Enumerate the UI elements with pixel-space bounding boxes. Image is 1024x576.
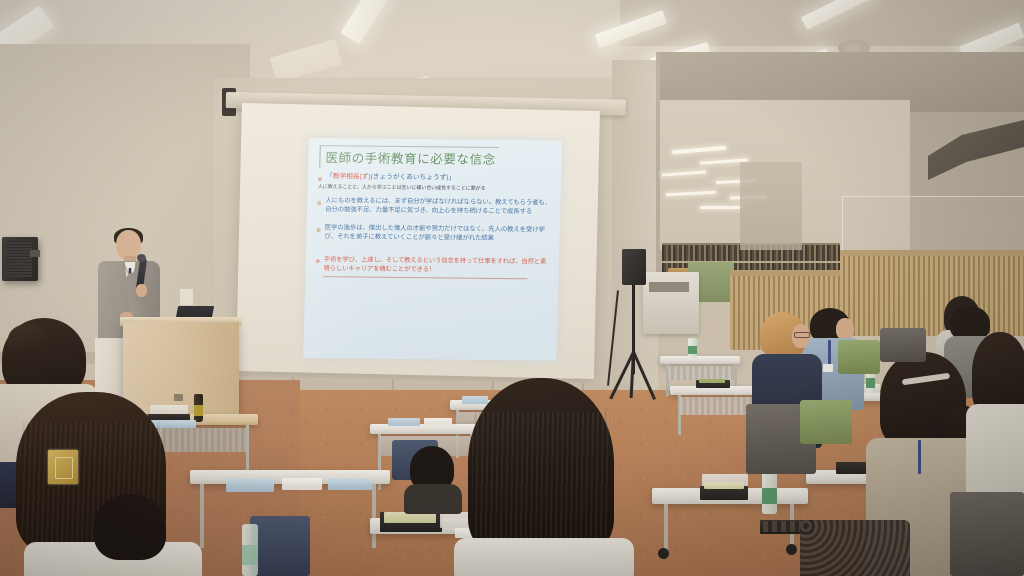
slide-bullet-1-subtext: 人に教えることと、人から学ぶことは互いに補い合い成長することに繋がる	[318, 184, 553, 193]
bottle-label	[242, 545, 258, 565]
bottle-label	[762, 488, 777, 505]
desk-modesty-panel	[668, 366, 734, 380]
attendee-chair	[950, 492, 1024, 576]
attendee-skirt-pattern	[800, 520, 910, 576]
bullet-marker-icon	[317, 201, 321, 205]
attendee-hair-bun	[8, 324, 48, 354]
attendee-foreground-center	[468, 378, 638, 576]
copier-panel	[649, 282, 689, 292]
slide-bullet-2-text: 人にものを教えるには、まず自分が学ばなければならない。教えてもらう者も、自分の勉…	[325, 198, 552, 217]
water-bottle	[762, 470, 777, 514]
wall-speaker	[2, 237, 38, 281]
handout-paper	[226, 478, 274, 492]
attendee-torso	[404, 484, 462, 514]
slide-bullet-1: 「教学相長(ず)(きょうがくあいちょうず)」	[318, 173, 553, 184]
presentation-photo-scene: 医師の手術教育に必要な信念 「教学相長(ず)(きょうがくあいちょうず)」 人に教…	[0, 0, 1024, 576]
bullet-marker-icon	[318, 177, 322, 181]
desk-caster-icon	[658, 548, 669, 559]
bento-food	[704, 482, 744, 489]
tripod-speaker	[622, 249, 646, 285]
attendee-chair-green	[838, 340, 880, 374]
desk-modesty-panel	[680, 397, 752, 415]
handout-paper	[328, 478, 372, 490]
attendee-chair	[880, 328, 926, 362]
projected-slide: 医師の手術教育に必要な信念 「教学相長(ず)(きょうがくあいちょうず)」 人に教…	[303, 138, 562, 361]
slide-bullet-1-highlight: 教学相長(ず)	[333, 173, 371, 180]
partition-cap	[840, 250, 1024, 256]
hair-clip	[48, 450, 78, 484]
attendee-desk	[660, 356, 740, 364]
microphone-head-icon	[137, 254, 146, 262]
bento-food	[699, 379, 725, 383]
copier	[643, 272, 699, 334]
desk-leg	[246, 425, 249, 475]
bottle-label	[688, 346, 697, 354]
attendee-hair	[94, 494, 166, 560]
attendee-midground	[94, 494, 172, 576]
attendee-hair-strands	[472, 412, 610, 554]
bullet-marker-icon	[317, 228, 321, 232]
attendee-head	[836, 318, 854, 340]
water-bottle	[688, 338, 697, 358]
slide-bullet-4-underline	[323, 276, 527, 279]
slide-bullet-4-text: 手術を学び、上達し、そして教えるという信念を持って仕事をすれば、自然と素晴らしい…	[323, 255, 550, 275]
speaker-grille	[6, 241, 32, 277]
library-light-strip	[700, 206, 742, 209]
desk-leg	[372, 484, 376, 548]
water-bottle	[242, 524, 258, 576]
bullet-marker-icon	[316, 259, 320, 263]
slide-bullet-1-text: 「教学相長(ず)(きょうがくあいちょうず)」	[326, 173, 455, 183]
attendee-midground	[404, 446, 464, 510]
desk-leg	[664, 504, 668, 552]
wall-socket	[179, 288, 194, 306]
slide-bullet-3-text: 医学の進歩は、傑出した偉人の才能や努力だけではなく、先人の教えを受け学び、それを…	[324, 224, 551, 243]
attendee-torso	[454, 538, 634, 576]
eyeglasses-icon	[794, 332, 810, 338]
handout-paper	[282, 478, 322, 490]
desk-leg	[200, 484, 204, 548]
slide-bullet-3: 医学の進歩は、傑出した偉人の才能や努力だけではなく、先人の教えを受け学び、それを…	[316, 224, 551, 243]
attendee-chair-green	[800, 400, 852, 444]
handout-paper	[424, 418, 452, 426]
lanyard	[828, 340, 831, 366]
partition-cap	[730, 270, 840, 276]
slide-title: 医師の手術教育に必要な信念	[319, 145, 499, 170]
presenter-hand	[136, 284, 147, 297]
library-glass-wall	[740, 162, 802, 250]
desk-caster-icon	[786, 544, 797, 555]
speaker-bracket	[30, 250, 40, 257]
slide-bullet-4: 手術を学び、上達し、そして教えるという信念を持って仕事をすれば、自然と素晴らしい…	[315, 255, 550, 275]
handout-paper	[388, 418, 420, 426]
name-badge	[823, 364, 833, 372]
attendee-chair	[250, 516, 310, 576]
slide-bullet-2: 人にものを教えるには、まず自分が学ばなければならない。教えてもらう者も、自分の勉…	[317, 197, 552, 216]
lanyard	[918, 440, 921, 474]
